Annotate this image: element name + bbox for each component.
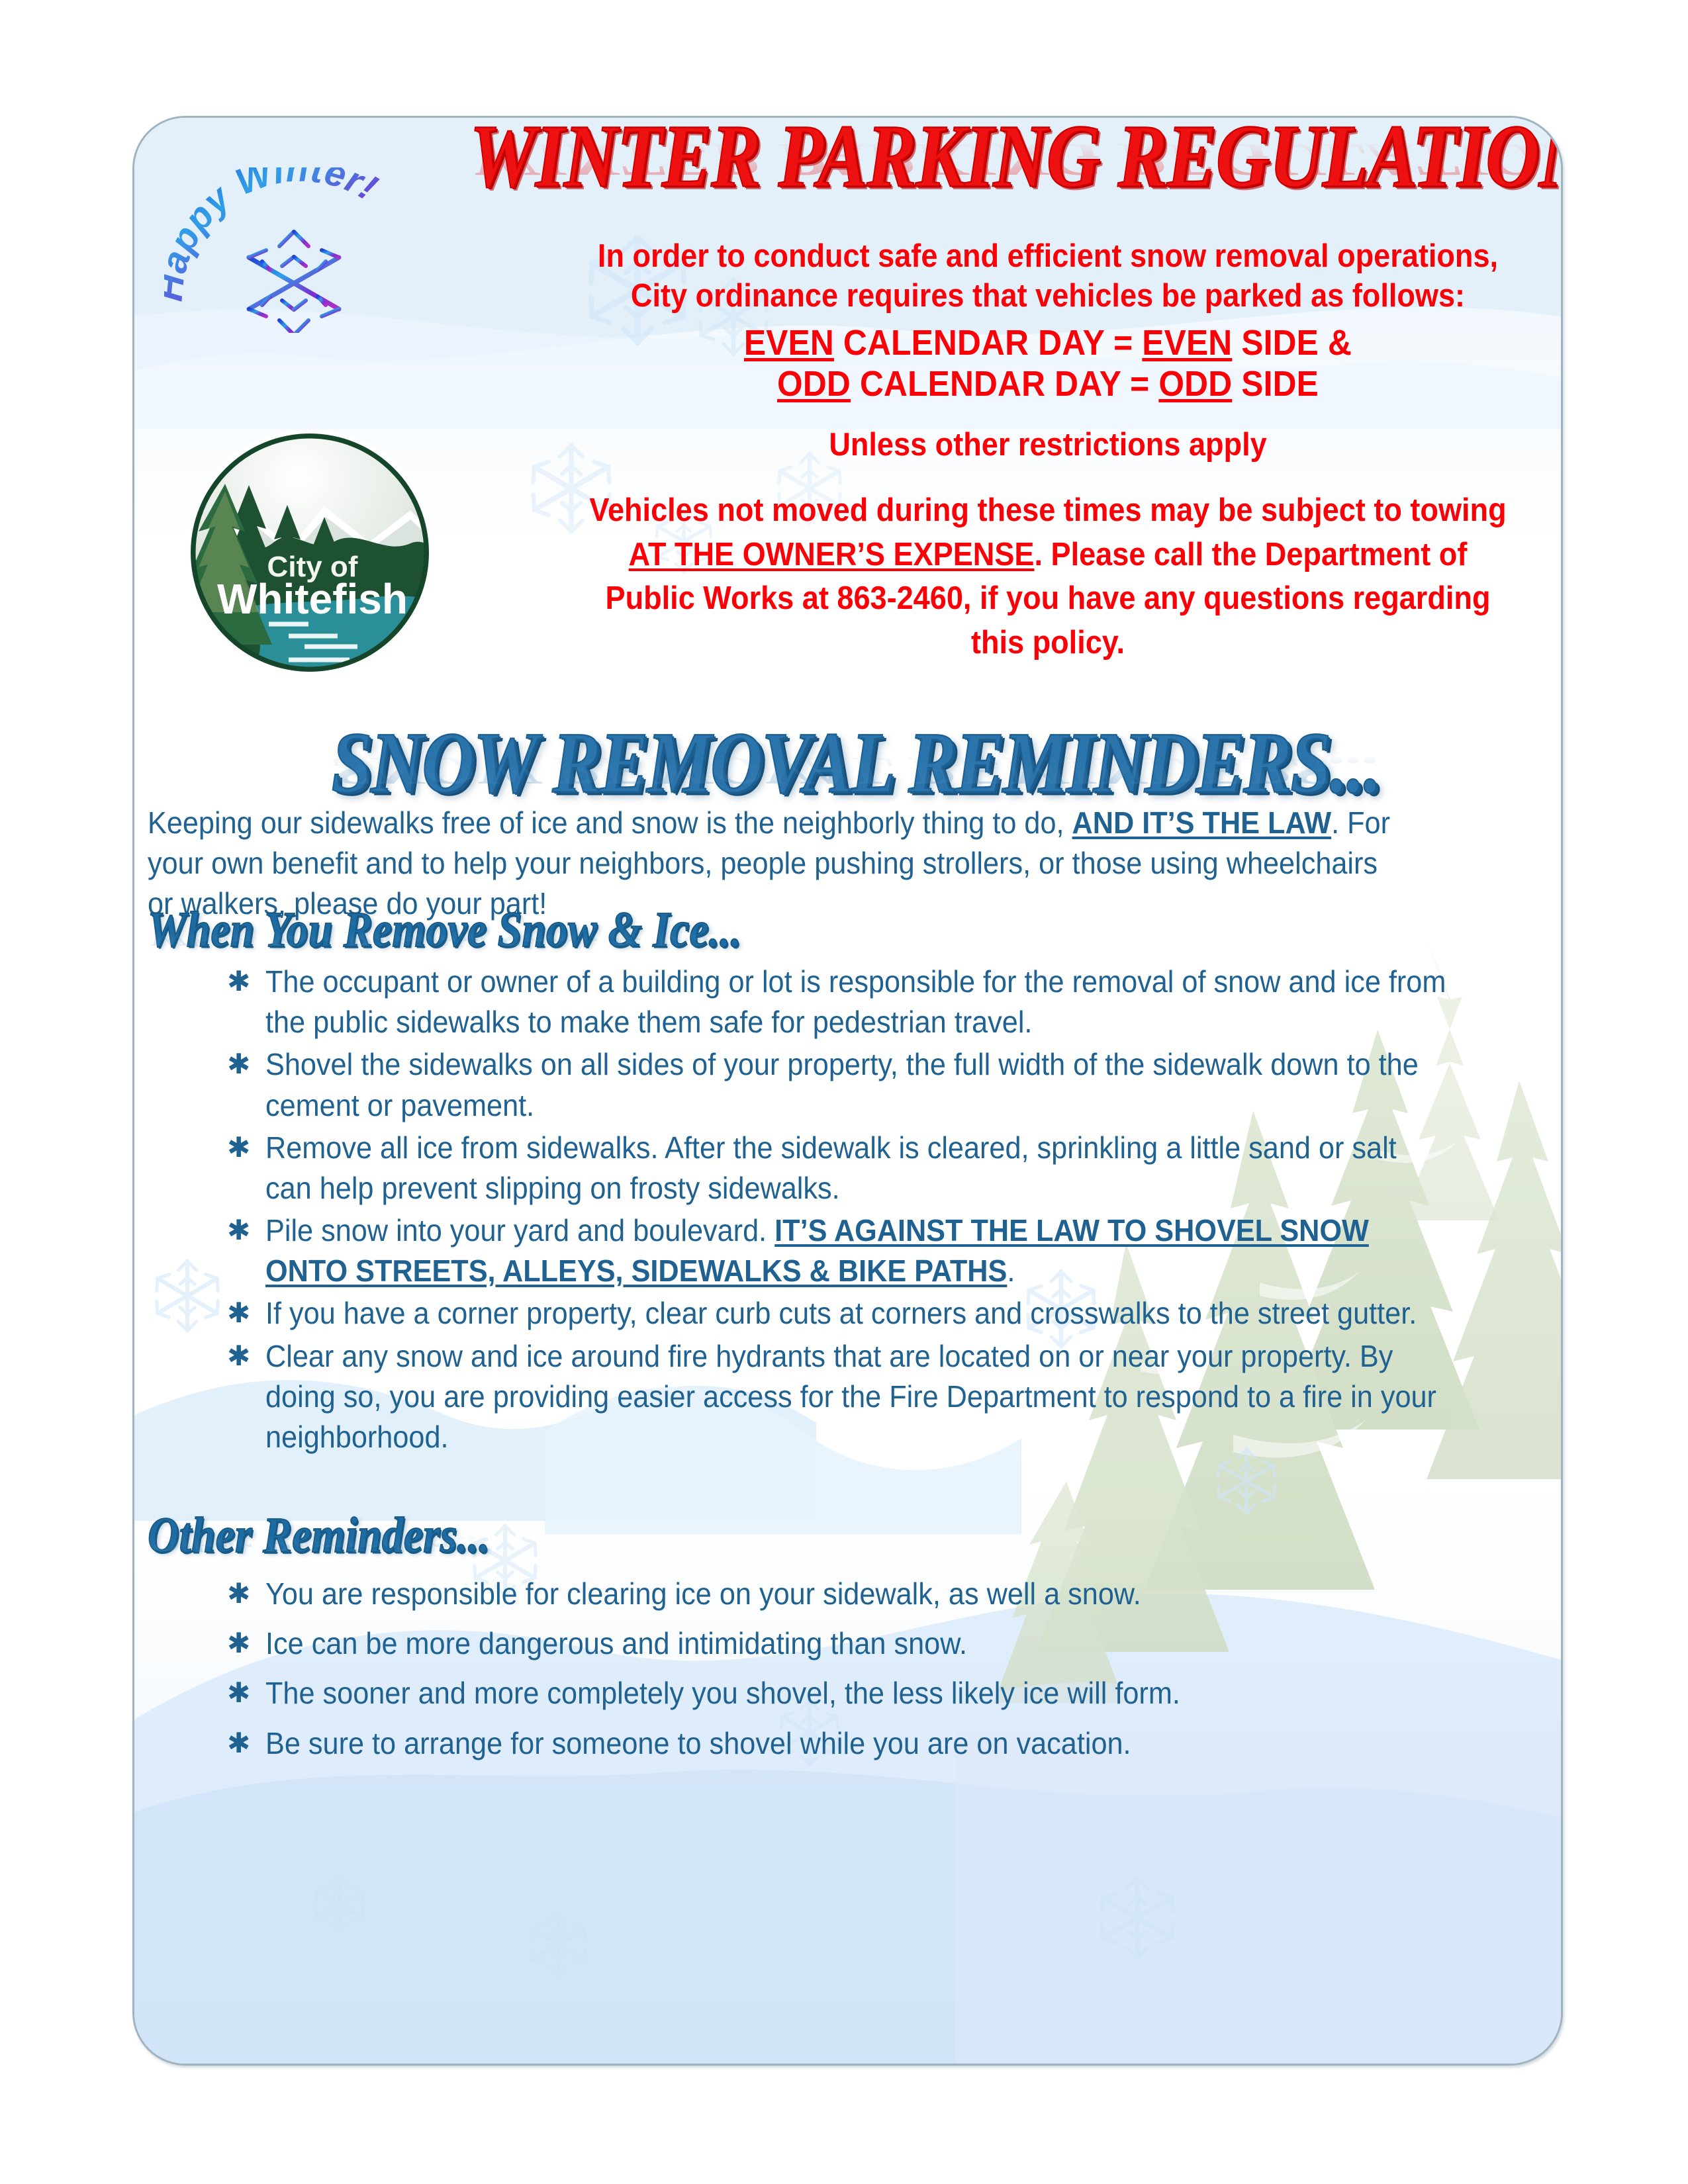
list-item-text: Clear any snow and ice around fire hydra…	[265, 1336, 1449, 1458]
list-item: ✱ Ice can be more dangerous and intimida…	[227, 1623, 1524, 1664]
odd-side-keyword: ODD	[1158, 364, 1232, 404]
happy-winter-clipart: Happy Winter!	[164, 167, 449, 333]
snow-removal-heading-reflection: SNOW REMOVAL REMINDERS...	[201, 751, 1511, 790]
section-heading-when-reflection: When You Remove Snow & Ice...	[148, 927, 741, 949]
list-item: ✱ Pile snow into your yard and boulevard…	[227, 1210, 1524, 1291]
bullet-asterisk-icon: ✱	[227, 1210, 265, 1249]
section-heading-other-reflection: Other Reminders...	[148, 1533, 490, 1555]
parking-rule-even: EVEN CALENDAR DAY = EVEN SIDE &	[597, 323, 1499, 364]
bullet-asterisk-icon: ✱	[227, 962, 265, 1000]
list-item-text-lead: Pile snow into your yard and boulevard.	[265, 1213, 774, 1248]
happy-winter-label: Happy Winter!	[164, 167, 385, 303]
list-item: ✱ The sooner and more completely you sho…	[227, 1673, 1524, 1713]
parking-rule-block: EVEN CALENDAR DAY = EVEN SIDE & ODD CALE…	[597, 323, 1499, 404]
list-item: ✱ If you have a corner property, clear c…	[227, 1293, 1524, 1334]
parking-rule-odd: ODD CALENDAR DAY = ODD SIDE	[597, 364, 1499, 405]
owner-expense-emphasis: AT THE OWNER’S EXPENSE	[629, 537, 1035, 572]
restrictions-note: Unless other restrictions apply	[597, 426, 1499, 465]
bullet-asterisk-icon: ✱	[227, 1336, 265, 1375]
bullet-asterisk-icon: ✱	[227, 1044, 265, 1083]
list-item-text: Pile snow into your yard and boulevard. …	[265, 1210, 1449, 1291]
list-item-text: Shovel the sidewalks on all sides of you…	[265, 1044, 1449, 1125]
list-item-text: You are responsible for clearing ice on …	[265, 1574, 1449, 1614]
odd-day-keyword: ODD	[777, 364, 851, 404]
other-reminders-list: ✱ You are responsible for clearing ice o…	[227, 1574, 1524, 1773]
towing-paragraph: Vehicles not moved during these times ma…	[585, 488, 1511, 665]
even-day-keyword: EVEN	[744, 323, 834, 363]
even-side-keyword: EVEN	[1142, 323, 1232, 363]
list-item: ✱ Clear any snow and ice around fire hyd…	[227, 1336, 1524, 1458]
list-item-text: Remove all ice from sidewalks. After the…	[265, 1128, 1449, 1208]
bullet-asterisk-icon: ✱	[227, 1623, 265, 1662]
list-item-text: Be sure to arrange for someone to shovel…	[265, 1723, 1449, 1764]
bullet-asterisk-icon: ✱	[227, 1723, 265, 1762]
reminders-intro-1: Keeping our sidewalks free of ice and sn…	[148, 805, 1072, 840]
logo-line-2: Whitefish	[217, 575, 408, 623]
list-item: ✱ Remove all ice from sidewalks. After t…	[227, 1128, 1524, 1208]
bullet-asterisk-icon: ✱	[227, 1128, 265, 1166]
when-remove-snow-list: ✱ The occupant or owner of a building or…	[227, 962, 1524, 1459]
svg-text:Happy Winter!: Happy Winter!	[164, 167, 385, 303]
page-title-block: WINTER PARKING REGULATIONS WINTER PARKIN…	[459, 116, 1558, 237]
towing-text-1: Vehicles not moved during these times ma…	[589, 492, 1506, 528]
city-of-whitefish-logo: City of Whitefish	[151, 406, 469, 704]
bullet-asterisk-icon: ✱	[227, 1673, 265, 1711]
flyer-page: Happy Winter!	[132, 116, 1563, 2066]
list-item: ✱ You are responsible for clearing ice o…	[227, 1574, 1524, 1614]
list-item: ✱ Shovel the sidewalks on all sides of y…	[227, 1044, 1524, 1125]
bullet-asterisk-icon: ✱	[227, 1293, 265, 1332]
snowflake-icon	[249, 232, 339, 333]
and-its-the-law-emphasis: AND IT’S THE LAW	[1072, 805, 1332, 840]
bullet-asterisk-icon: ✱	[227, 1574, 265, 1612]
page-title-reflection: WINTER PARKING REGULATIONS	[470, 136, 1547, 183]
intro-paragraph: In order to conduct safe and efficient s…	[597, 237, 1499, 316]
list-item-text: The occupant or owner of a building or l…	[265, 962, 1449, 1042]
list-item: ✱ The occupant or owner of a building or…	[227, 962, 1524, 1042]
list-item-text: Ice can be more dangerous and intimidati…	[265, 1623, 1449, 1664]
list-item-text: The sooner and more completely you shove…	[265, 1673, 1449, 1713]
list-item-text: If you have a corner property, clear cur…	[265, 1293, 1449, 1334]
list-item: ✱ Be sure to arrange for someone to shov…	[227, 1723, 1524, 1764]
list-item-text-tail: .	[1007, 1253, 1015, 1288]
